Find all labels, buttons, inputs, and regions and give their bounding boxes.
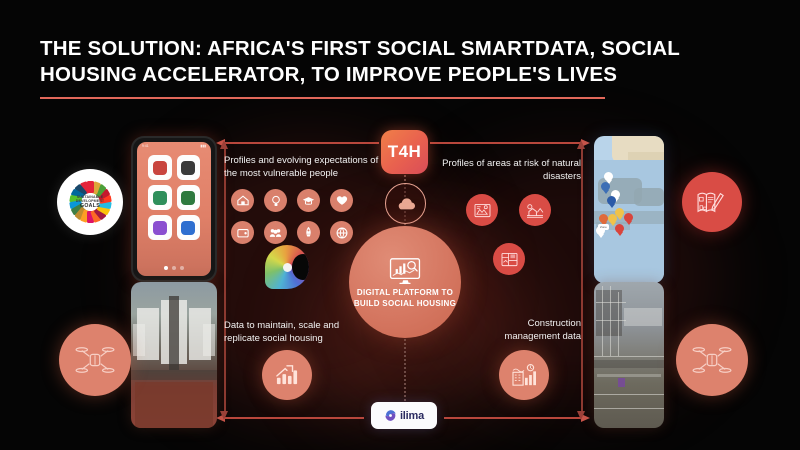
blueprint-plan-icon[interactable]	[682, 172, 742, 232]
map-pin[interactable]	[601, 182, 610, 194]
app-tile[interactable]	[177, 155, 201, 180]
axis-left-vertical	[224, 148, 226, 412]
construction-analytics-icon[interactable]	[499, 350, 549, 400]
growth-bar-chart-icon[interactable]	[262, 350, 312, 400]
rocket-startup-icon[interactable]	[297, 221, 320, 244]
hazard-map-icon[interactable]	[466, 194, 498, 226]
smartphone-mockup[interactable]: 9:41▮▮▮	[131, 136, 217, 282]
title-block: THE SOLUTION: AFRICA'S FIRST SOCIAL SMAR…	[40, 36, 680, 99]
arrow-top-left	[224, 142, 379, 144]
connector-bottom	[404, 339, 406, 401]
ilima-wordmark: ilima	[400, 410, 424, 422]
housing-icon[interactable]	[231, 189, 254, 212]
sdg-title-line1: SUSTAINABLE DEVELOPMENT	[76, 195, 105, 203]
map-panel[interactable]: Zone	[594, 136, 664, 283]
ilima-logo[interactable]: ilima	[371, 402, 437, 429]
app-tile[interactable]	[148, 215, 172, 240]
sdg-segment	[87, 181, 94, 193]
t4h-badge[interactable]: T4H	[381, 130, 428, 174]
arrow-bottom-right	[444, 417, 582, 419]
education-cap-icon[interactable]	[297, 189, 320, 212]
map-pin[interactable]	[615, 224, 624, 236]
app-tile[interactable]	[177, 185, 201, 210]
phone-screen: 9:41▮▮▮	[137, 142, 211, 276]
briefcase-icon	[153, 221, 167, 235]
phone-status-bar: 9:41▮▮▮	[137, 142, 211, 149]
t4h-label: T4H	[388, 142, 422, 162]
app-tile[interactable]	[177, 215, 201, 240]
health-heart-icon[interactable]	[330, 189, 353, 212]
wallet-finance-icon[interactable]	[231, 221, 254, 244]
drone-icon[interactable]	[59, 324, 131, 396]
axis-right-vertical	[581, 148, 583, 412]
map-pin[interactable]	[607, 196, 616, 208]
map-pin[interactable]	[624, 213, 633, 225]
app-tile[interactable]	[148, 155, 172, 180]
ilima-mark-icon	[384, 409, 397, 422]
graduation-cap-icon	[181, 161, 195, 175]
rainbow-c-logo[interactable]	[265, 245, 309, 289]
housing-render-photo[interactable]	[131, 282, 217, 428]
construction-site-photo[interactable]	[594, 282, 664, 428]
risk-zone-map-icon[interactable]	[493, 243, 525, 275]
app-icon-grid	[137, 149, 211, 240]
camera-app-icon	[153, 161, 167, 175]
rocket-icon	[181, 221, 195, 235]
un-sdg-wheel[interactable]: SUSTAINABLE DEVELOPMENT GOALS	[57, 169, 123, 235]
app-tile[interactable]	[148, 185, 172, 210]
caption-top-right: Profiles of areas at risk of natural dis…	[438, 158, 581, 183]
cloud-icon	[385, 183, 426, 224]
slide-canvas: THE SOLUTION: AFRICA'S FIRST SOCIAL SMAR…	[0, 0, 800, 450]
page-dots	[137, 266, 211, 270]
drone-icon[interactable]	[676, 324, 748, 396]
sdg-segments: SUSTAINABLE DEVELOPMENT GOALS	[61, 173, 119, 231]
title-underline	[40, 97, 605, 99]
flood-disaster-icon[interactable]	[519, 194, 551, 226]
page-title: THE SOLUTION: AFRICA'S FIRST SOCIAL SMAR…	[40, 36, 680, 88]
analytics-dashboard-icon	[388, 256, 422, 284]
caption-bottom-left: Data to maintain, scale and replicate so…	[224, 320, 374, 345]
wallet-icon	[181, 191, 195, 205]
arrow-top-right	[430, 142, 582, 144]
sdg-core-label: SUSTAINABLE DEVELOPMENT GOALS	[76, 195, 105, 209]
sdg-title-line2: GOALS	[76, 203, 105, 209]
idea-lightbulb-icon[interactable]	[264, 189, 287, 212]
background-glow	[420, 150, 720, 410]
community-people-icon[interactable]	[264, 221, 287, 244]
caption-bottom-right: Construction management data	[470, 318, 581, 343]
arrow-bottom-left	[224, 417, 364, 419]
core-label: DIGITAL PLATFORM TO BUILD SOCIAL HOUSING	[349, 287, 461, 309]
health-runner-icon	[153, 191, 167, 205]
environment-icon[interactable]	[330, 221, 353, 244]
caption-top-left: Profiles and evolving expectations of th…	[224, 155, 384, 180]
